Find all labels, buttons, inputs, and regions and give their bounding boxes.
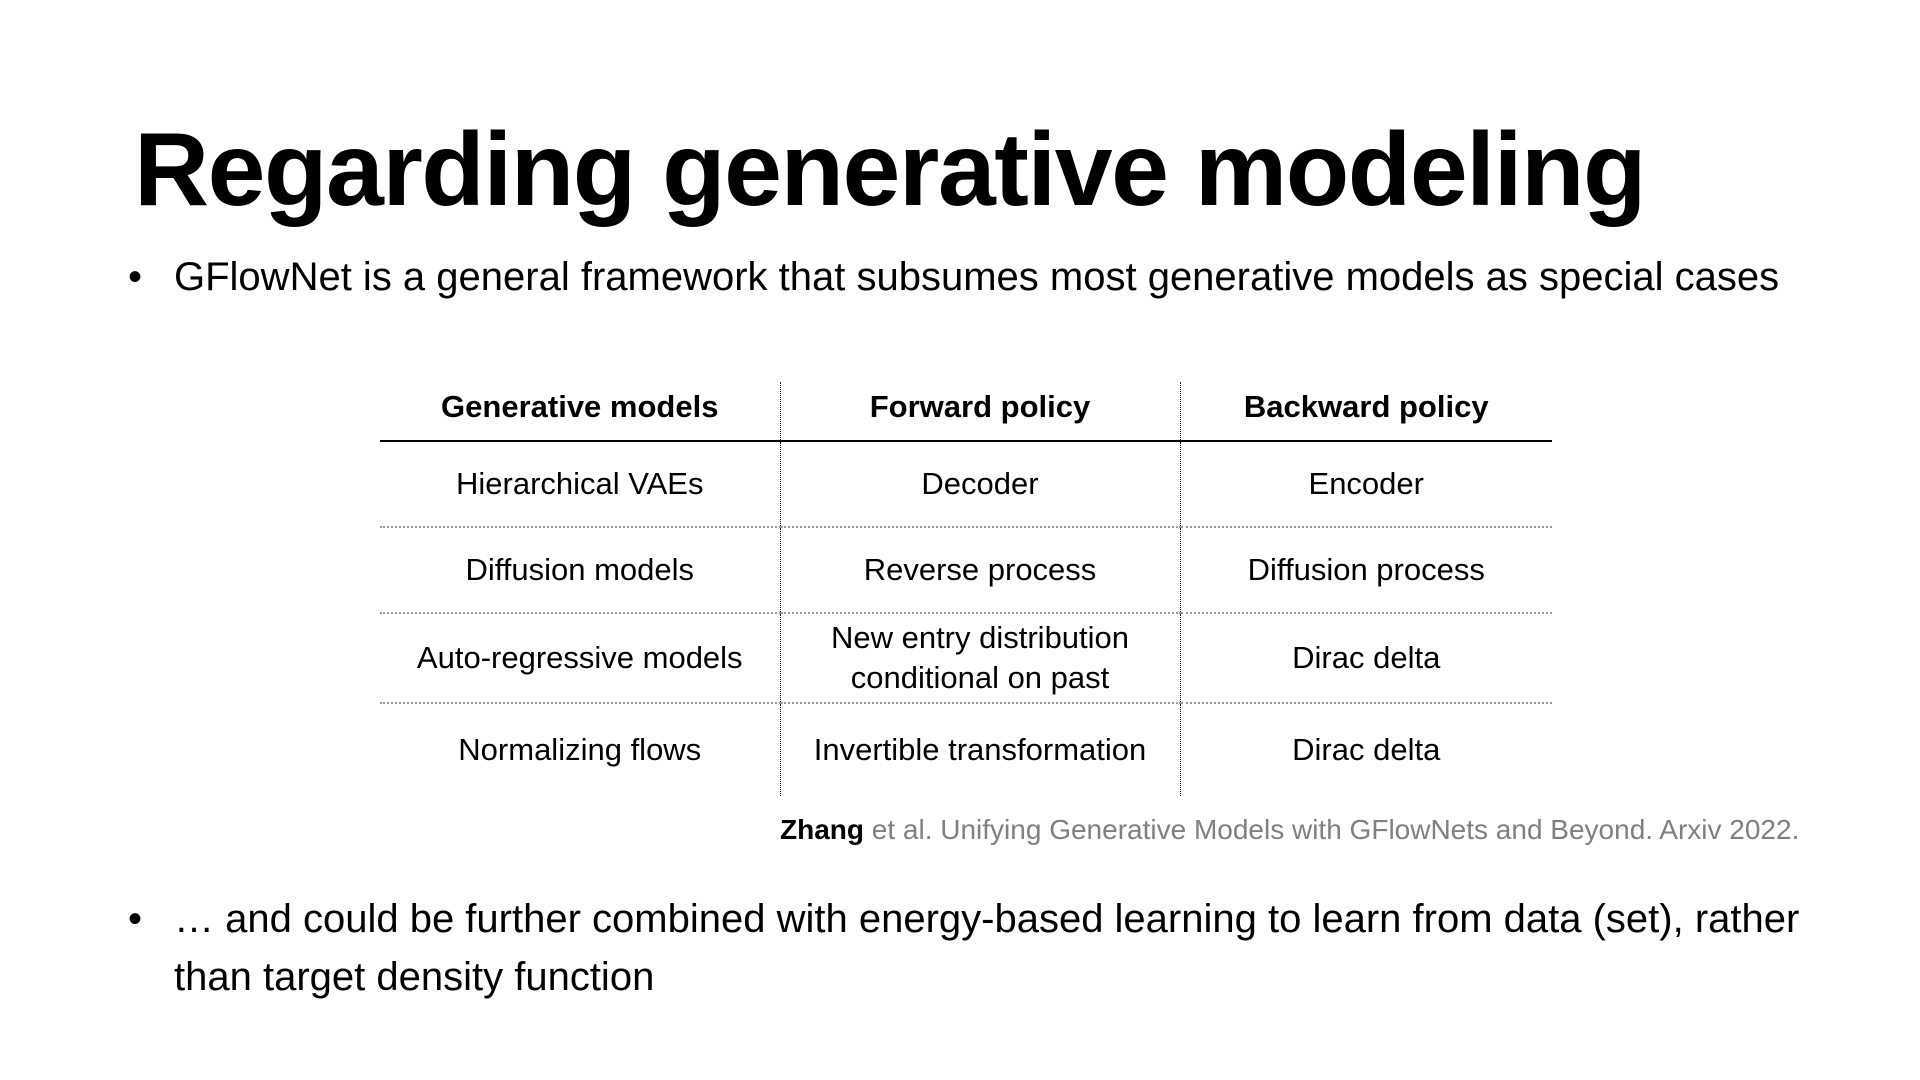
citation-rest: et al. Unifying Generative Models with G… bbox=[864, 814, 1799, 845]
table-row: Normalizing flows Invertible transformat… bbox=[380, 703, 1552, 796]
cell-forward: New entry distribution conditional on pa… bbox=[780, 613, 1180, 703]
bullet-item-1: • GFlowNet is a general framework that s… bbox=[128, 248, 1848, 306]
cell-backward: Encoder bbox=[1180, 441, 1552, 527]
slide-canvas: Regarding generative modeling • GFlowNet… bbox=[0, 0, 1920, 1080]
citation-author: Zhang bbox=[780, 814, 864, 845]
cell-forward: Decoder bbox=[780, 441, 1180, 527]
bullet-item-2: • … and could be further combined with e… bbox=[128, 890, 1868, 1006]
cell-forward: Reverse process bbox=[780, 527, 1180, 613]
generative-models-table: Generative models Forward policy Backwar… bbox=[380, 382, 1552, 782]
bullet-text-1: GFlowNet is a general framework that sub… bbox=[174, 248, 1779, 306]
bullet-marker-icon: • bbox=[128, 248, 174, 306]
column-header-backward-policy: Backward policy bbox=[1180, 382, 1552, 441]
table-row: Auto-regressive models New entry distrib… bbox=[380, 613, 1552, 703]
cell-forward-line-2: conditional on past bbox=[781, 658, 1180, 698]
cell-model: Hierarchical VAEs bbox=[380, 441, 780, 527]
cell-backward: Dirac delta bbox=[1180, 613, 1552, 703]
page-title: Regarding generative modeling bbox=[134, 114, 1834, 226]
table-row: Hierarchical VAEs Decoder Encoder bbox=[380, 441, 1552, 527]
table-row: Diffusion models Reverse process Diffusi… bbox=[380, 527, 1552, 613]
citation-reference: Zhang et al. Unifying Generative Models … bbox=[780, 812, 1900, 848]
table-header-row: Generative models Forward policy Backwar… bbox=[380, 382, 1552, 441]
bullet-marker-icon: • bbox=[128, 890, 174, 948]
cell-model: Auto-regressive models bbox=[380, 613, 780, 703]
cell-model: Normalizing flows bbox=[380, 703, 780, 796]
column-header-forward-policy: Forward policy bbox=[780, 382, 1180, 441]
cell-backward: Dirac delta bbox=[1180, 703, 1552, 796]
cell-forward: Invertible transformation bbox=[780, 703, 1180, 796]
cell-backward: Diffusion process bbox=[1180, 527, 1552, 613]
cell-model: Diffusion models bbox=[380, 527, 780, 613]
comparison-table: Generative models Forward policy Backwar… bbox=[380, 382, 1552, 796]
cell-forward-line-1: New entry distribution bbox=[781, 618, 1180, 658]
bullet-text-2: … and could be further combined with ene… bbox=[174, 890, 1868, 1006]
column-header-generative-models: Generative models bbox=[380, 382, 780, 441]
